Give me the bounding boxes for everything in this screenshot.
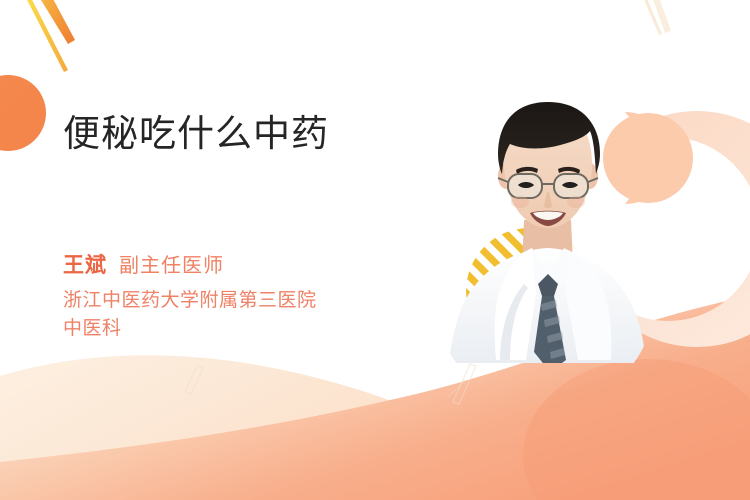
page-title: 便秘吃什么中药	[63, 113, 329, 156]
cheek-right	[567, 196, 585, 208]
doctor-name: 王斌	[63, 254, 107, 277]
doctor-portrait-illustration	[440, 98, 655, 363]
stripe-outline-decor	[185, 366, 203, 394]
doctor-portrait	[440, 98, 655, 363]
stripe-cream-2	[640, 0, 662, 35]
wave-bottom-light	[0, 355, 750, 500]
orange-circle-decor	[0, 75, 46, 151]
stripe-top-right-group	[640, 0, 671, 35]
stripe-outline-decor-right	[453, 364, 476, 404]
doctor-hospital: 浙江中医药大学附属第三医院	[63, 287, 317, 315]
stripe-top-left-group	[22, 0, 75, 72]
doctor-department: 中医科	[63, 315, 122, 343]
doctor-info-card: 便秘吃什么中药 王斌副主任医师 浙江中医药大学附属第三医院 中医科	[0, 0, 750, 500]
stripe-cream-1	[648, 0, 671, 33]
doctor-name-line: 王斌副主任医师	[63, 249, 224, 279]
stripe-hairline-decor	[447, 380, 465, 398]
wave-highlight-blob	[523, 359, 750, 500]
stripe-yellow-thin	[22, 0, 68, 72]
cheek-left	[511, 196, 529, 208]
doctor-rank: 副主任医师	[119, 255, 224, 277]
stripe-orange-thick	[30, 0, 75, 44]
